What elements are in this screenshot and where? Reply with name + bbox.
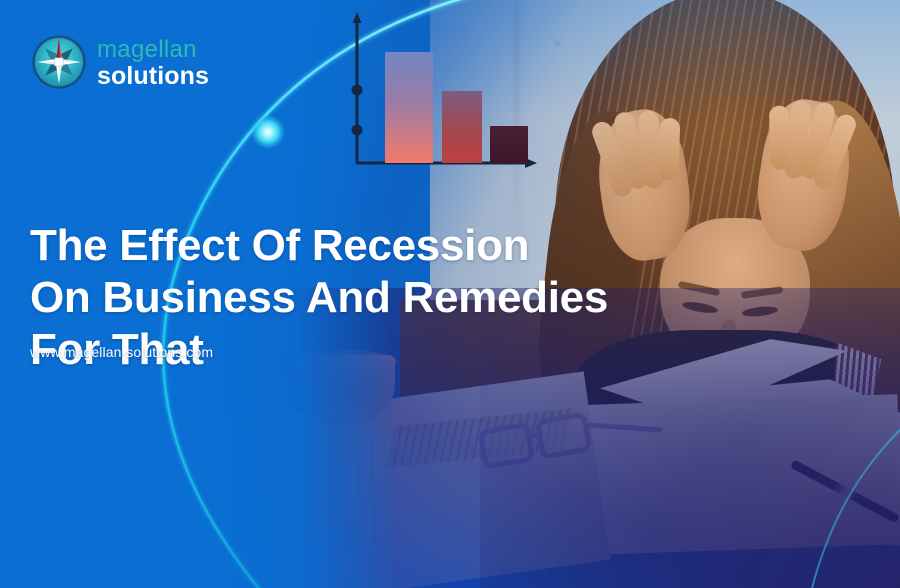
magellan-solutions-logo[interactable]: magellan solutions [30, 33, 209, 91]
logo-wordmark: magellan solutions [97, 36, 209, 89]
logo-word-solutions: solutions [97, 64, 209, 89]
headline-line-1: The Effect Of Recession [30, 220, 670, 272]
chart-axis-marker [352, 85, 363, 96]
chart-y-axis-arrow [353, 12, 362, 23]
chart-bar [490, 126, 528, 163]
chart-bar [442, 91, 482, 163]
compass-rose-icon [30, 33, 88, 91]
chart-axis-marker [352, 125, 363, 136]
headline-line-2: On Business And Remedies [30, 272, 670, 324]
website-url[interactable]: www.magellan-solutions.com [30, 344, 213, 360]
banner: magellan solutions The Effect Of Recessi… [0, 0, 900, 588]
logo-word-magellan: magellan [97, 38, 209, 62]
chart-bar [385, 52, 433, 163]
bar-chart-graphic [345, 8, 545, 190]
glow-dot-icon [252, 116, 284, 148]
